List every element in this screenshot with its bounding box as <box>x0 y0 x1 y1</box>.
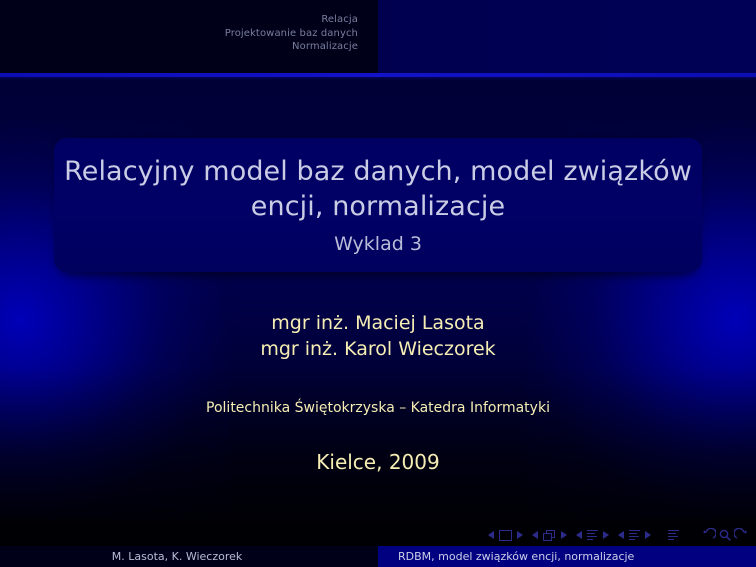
previous-section-arrow-icon[interactable] <box>618 531 624 539</box>
next-slide-arrow-icon[interactable] <box>517 531 523 539</box>
beamer-navigation-bar[interactable] <box>488 525 748 545</box>
header-item-normalizacje[interactable]: Normalizacje <box>0 40 358 54</box>
header-navigation-panel[interactable]: Relacja Projektowanie baz danych Normali… <box>0 0 378 73</box>
previous-slide-arrow-icon[interactable] <box>488 531 494 539</box>
nav-group-section[interactable] <box>618 530 651 541</box>
search-icon[interactable] <box>718 528 732 542</box>
previous-frame-arrow-icon[interactable] <box>532 531 538 539</box>
header-item-projektowanie[interactable]: Projektowanie baz danych <box>0 27 358 41</box>
page-subtitle: Wyklad 3 <box>54 232 702 256</box>
nav-group-history[interactable] <box>702 528 748 542</box>
footer-left-section: M. Lasota, K. Wieczorek <box>0 546 378 567</box>
page-title: Relacyjny model baz danych, model związk… <box>54 154 702 224</box>
date-line: Kielce, 2009 <box>0 450 756 474</box>
document-icon[interactable] <box>668 530 679 541</box>
header-divider-glow <box>0 77 756 80</box>
frame-icon[interactable] <box>543 530 556 541</box>
footer-right-section: RDBM, model związków encji, normalizacje <box>378 546 756 567</box>
nav-group-slide[interactable] <box>488 530 523 541</box>
author-name-1: mgr inż. Maciej Lasota <box>0 310 756 336</box>
subsection-icon[interactable] <box>587 530 598 541</box>
author-name-2: mgr inż. Karol Wieczorek <box>0 336 756 362</box>
nav-group-subsection[interactable] <box>576 530 609 541</box>
presentation-slide: Relacja Projektowanie baz danych Normali… <box>0 0 756 567</box>
next-frame-arrow-icon[interactable] <box>561 531 567 539</box>
nav-group-frame[interactable] <box>532 530 567 541</box>
nav-group-document[interactable] <box>668 530 679 541</box>
previous-subsection-arrow-icon[interactable] <box>576 531 582 539</box>
author-block: mgr inż. Maciej Lasota mgr inż. Karol Wi… <box>0 310 756 362</box>
next-subsection-arrow-icon[interactable] <box>603 531 609 539</box>
section-icon[interactable] <box>629 530 640 541</box>
title-box: Relacyjny model baz danych, model związk… <box>54 138 702 272</box>
slide-icon[interactable] <box>499 530 512 541</box>
footer-title: RDBM, model związków encji, normalizacje <box>398 550 634 563</box>
header-item-relacja[interactable]: Relacja <box>0 13 358 27</box>
footer-bar: M. Lasota, K. Wieczorek RDBM, model zwią… <box>0 546 756 567</box>
back-icon[interactable] <box>702 528 716 542</box>
institute-line: Politechnika Świętokrzyska – Katedra Inf… <box>0 400 756 416</box>
next-section-arrow-icon[interactable] <box>645 531 651 539</box>
forward-icon[interactable] <box>734 528 748 542</box>
footer-authors: M. Lasota, K. Wieczorek <box>112 550 243 563</box>
